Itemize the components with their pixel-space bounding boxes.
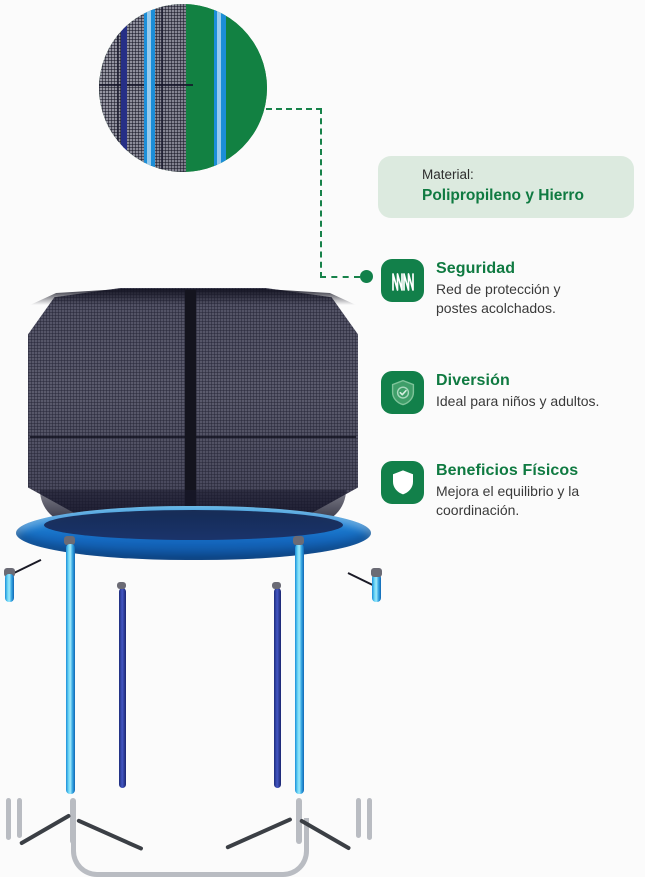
zoom-pole-blue <box>144 4 155 172</box>
shield-check-icon <box>381 371 424 414</box>
leg-post <box>6 798 11 840</box>
feature-description: Ideal para niños y adultos. <box>436 392 599 410</box>
leg-post <box>356 798 361 838</box>
feature-title: Seguridad <box>436 260 561 278</box>
enclosure-pole <box>295 544 304 794</box>
feature-row-seguridad: Seguridad Red de protección y postes aco… <box>381 259 561 317</box>
enclosure-pole <box>5 574 14 602</box>
feature-row-beneficios-fisicos: Beneficios Físicos Mejora el equilibrio … <box>381 461 579 519</box>
material-callout: Material: Polipropileno y Hierro <box>378 156 634 218</box>
feature-description: Red de protección y postes acolchados. <box>436 280 561 317</box>
zoom-detail-image <box>99 4 267 172</box>
shield-icon <box>381 461 424 504</box>
zoom-net-seam <box>117 4 119 172</box>
enclosure-pole <box>66 544 75 794</box>
dashed-connector-segment <box>320 108 322 278</box>
zoom-net-mesh <box>99 4 186 172</box>
material-value: Polipropileno y Hierro <box>422 186 634 206</box>
feature-text: Diversión Ideal para niños y adultos. <box>436 371 599 411</box>
infographic-canvas: Material: Polipropileno y Hierro <box>0 0 645 645</box>
enclosure-pole-rear <box>274 588 281 788</box>
leg-post <box>367 798 372 840</box>
zoom-detail-circle <box>99 4 267 172</box>
leg-post <box>17 798 22 838</box>
feature-title: Beneficios Físicos <box>436 462 579 480</box>
pole-cap <box>117 582 126 589</box>
enclosure-pole <box>372 574 381 602</box>
feature-text: Seguridad Red de protección y postes aco… <box>436 259 561 317</box>
feature-description: Mejora el equilibrio y la coordinación. <box>436 482 579 519</box>
leg-brace <box>19 813 71 845</box>
pole-cap <box>272 582 281 589</box>
springs-coil-icon <box>381 259 424 302</box>
trampoline-photo <box>0 258 392 645</box>
feature-row-diversion: Diversión Ideal para niños y adultos. <box>381 371 599 414</box>
net-tether <box>14 559 42 574</box>
pole-cap <box>371 568 382 577</box>
feature-title: Diversión <box>436 372 599 390</box>
feature-text: Beneficios Físicos Mejora el equilibrio … <box>436 461 579 519</box>
net-entry-zipper <box>185 290 196 515</box>
zoom-net-seam <box>161 4 163 172</box>
dashed-connector-segment <box>266 108 322 110</box>
enclosure-pole-rear <box>119 588 126 788</box>
pole-cap <box>293 536 304 545</box>
material-label: Material: <box>422 167 634 184</box>
zoom-pole-blue <box>214 4 226 172</box>
zoom-pole-dark <box>121 4 127 172</box>
